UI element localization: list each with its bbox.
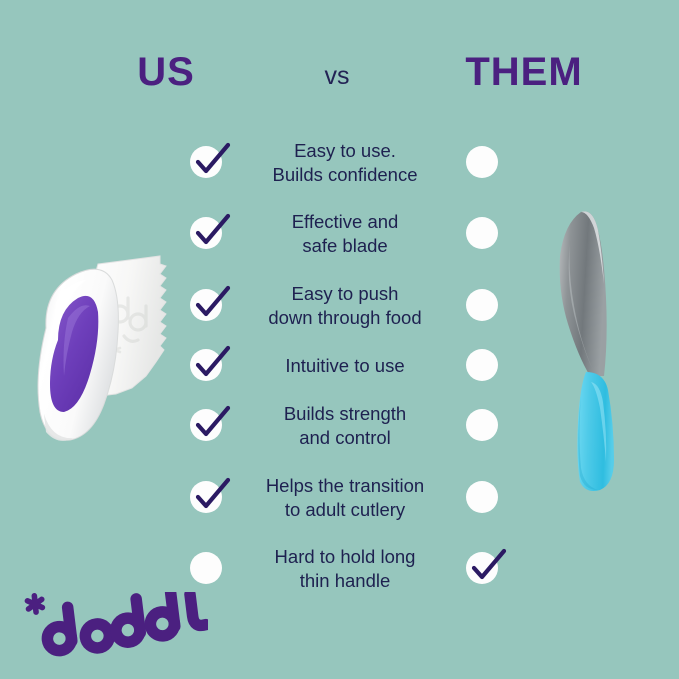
table-row: Hard to hold long thin handle xyxy=(190,534,500,604)
doddl-knife-illustration xyxy=(28,236,208,466)
table-row: Easy to use. Builds confidence xyxy=(190,128,500,198)
checkmark-icon xyxy=(192,285,232,325)
checkmark-icon xyxy=(192,213,232,253)
us-check-row-1 xyxy=(190,146,224,180)
them-check-row-6 xyxy=(466,481,500,515)
row-label: Easy to use. Builds confidence xyxy=(224,139,466,187)
checkmark-icon xyxy=(192,405,232,445)
checkmark-icon xyxy=(192,142,232,182)
us-check-row-5 xyxy=(190,409,224,443)
them-check-row-2 xyxy=(466,217,500,251)
doddl-logo-mark xyxy=(18,592,208,658)
them-circle-row-6 xyxy=(466,481,498,513)
us-check-row-2 xyxy=(190,217,224,251)
infographic-canvas: US vs THEM xyxy=(0,0,679,679)
doddl-knife-image xyxy=(28,236,208,466)
row-label: Hard to hold long thin handle xyxy=(224,545,466,593)
them-circle-row-3 xyxy=(466,289,498,321)
checkmark-icon xyxy=(192,477,232,517)
them-circle-row-5 xyxy=(466,409,498,441)
row-label: Helps the transition to adult cutlery xyxy=(224,474,466,522)
doddl-logo xyxy=(18,592,208,658)
row-label: Easy to push down through food xyxy=(224,282,466,330)
row-label: Builds strength and control xyxy=(224,402,466,450)
logo-wordmark xyxy=(44,592,207,654)
us-check-row-7 xyxy=(190,552,224,586)
them-circle-row-1 xyxy=(466,146,498,178)
them-check-row-1 xyxy=(466,146,500,180)
us-check-row-3 xyxy=(190,289,224,323)
conventional-knife-illustration xyxy=(536,200,646,500)
them-check-row-5 xyxy=(466,409,500,443)
row-label: Effective and safe blade xyxy=(224,210,466,258)
us-check-row-6 xyxy=(190,481,224,515)
comparison-rows: Easy to use. Builds confidence Effective… xyxy=(190,128,500,604)
header-vs-label: vs xyxy=(277,56,397,96)
table-row: Effective and safe blade xyxy=(190,198,500,270)
table-row: Helps the transition to adult cutlery xyxy=(190,462,500,534)
conventional-knife-image xyxy=(536,200,646,500)
them-check-row-4 xyxy=(466,349,500,383)
checkmark-icon xyxy=(468,548,508,588)
table-row: Intuitive to use xyxy=(190,342,500,390)
them-check-row-3 xyxy=(466,289,500,323)
us-check-row-4 xyxy=(190,349,224,383)
them-circle-row-2 xyxy=(466,217,498,249)
logo-asterisk-icon xyxy=(23,592,47,616)
table-row: Easy to push down through food xyxy=(190,270,500,342)
comparison-header: US vs THEM xyxy=(0,48,679,104)
table-row: Builds strength and control xyxy=(190,390,500,462)
them-circle-row-4 xyxy=(466,349,498,381)
row-label: Intuitive to use xyxy=(224,354,466,378)
us-circle-row-7 xyxy=(190,552,222,584)
them-check-row-7 xyxy=(466,552,500,586)
checkmark-icon xyxy=(192,345,232,385)
header-them-label: THEM xyxy=(414,48,634,96)
header-us-label: US xyxy=(96,48,236,96)
